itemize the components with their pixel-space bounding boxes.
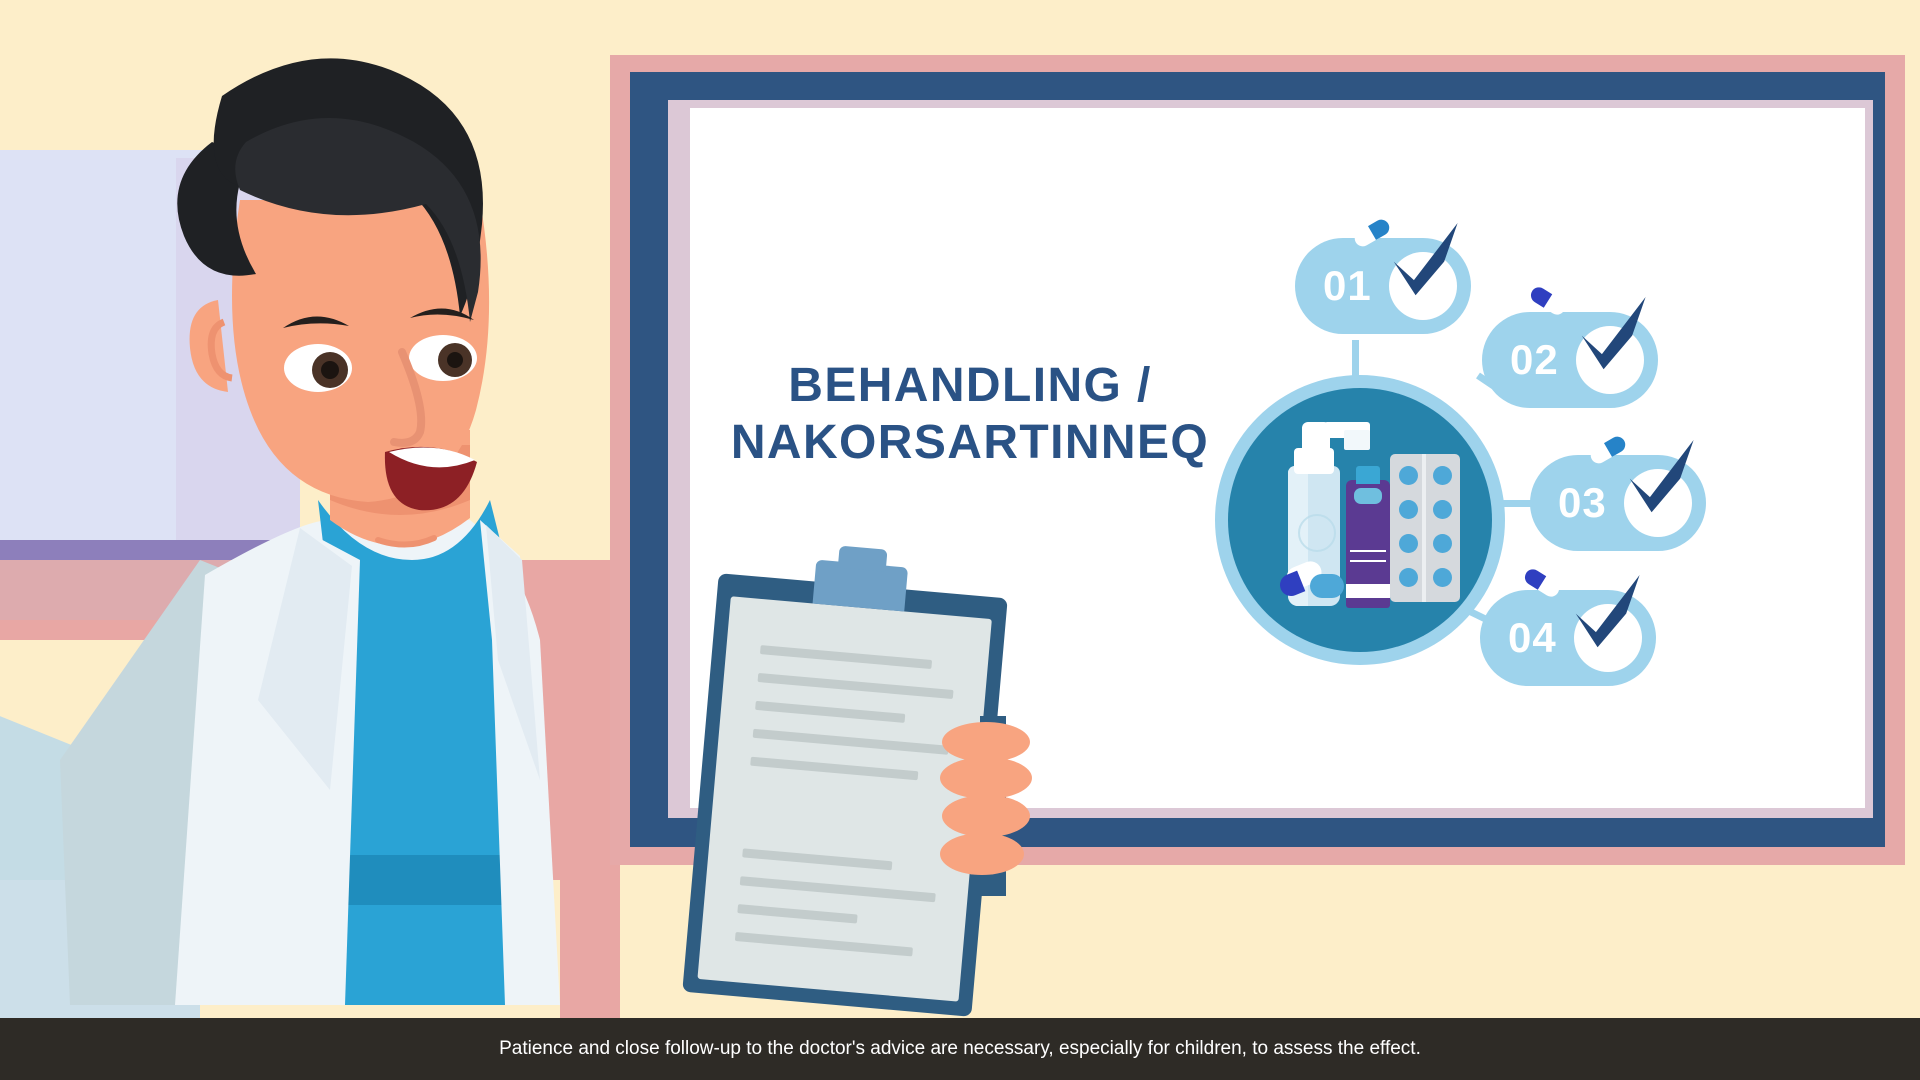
pill-icon bbox=[1399, 568, 1418, 587]
connector-01 bbox=[1352, 340, 1359, 380]
pill-icon bbox=[1399, 466, 1418, 485]
check-icon bbox=[1618, 435, 1702, 519]
whiteboard-title: BEHANDLING / NAKORSARTINNEQ bbox=[700, 358, 1240, 471]
clipboard-text-line bbox=[735, 932, 913, 956]
hand-gripping-clipboard bbox=[938, 716, 1058, 896]
clipboard-text-line bbox=[737, 904, 857, 923]
check-icon bbox=[1382, 218, 1466, 302]
ointment-tube-cap bbox=[1356, 466, 1380, 484]
clipboard-text-line bbox=[742, 848, 892, 870]
doctor-character bbox=[0, 0, 620, 1080]
whiteboard-title-line-1: BEHANDLING / bbox=[700, 358, 1240, 415]
clipboard-text-line bbox=[760, 645, 932, 669]
spray-bottle-seal bbox=[1298, 514, 1336, 552]
illustration-stage: BEHANDLING / NAKORSARTINNEQ bbox=[0, 0, 1920, 1080]
medicine-circle bbox=[1228, 388, 1492, 652]
whiteboard-title-line-2: NAKORSARTINNEQ bbox=[700, 415, 1240, 472]
badge-04-number: 04 bbox=[1508, 590, 1557, 686]
pill-icon bbox=[1433, 534, 1452, 553]
clipboard-text-line bbox=[753, 729, 949, 755]
pill-icon bbox=[1433, 500, 1452, 519]
caption-text: Patience and close follow-up to the doct… bbox=[0, 1018, 1920, 1080]
pill-icon bbox=[1399, 500, 1418, 519]
ointment-tube-base bbox=[1346, 584, 1390, 598]
clipboard-clip-top bbox=[838, 546, 888, 572]
ointment-tube-line bbox=[1350, 550, 1386, 552]
pill-icon bbox=[1433, 568, 1452, 587]
capsule-icon-cyan bbox=[1310, 574, 1344, 598]
blister-center-seam bbox=[1422, 454, 1426, 602]
spray-bottle-nozzle-tip bbox=[1344, 430, 1370, 450]
check-icon bbox=[1564, 570, 1648, 654]
clipboard-text-line bbox=[740, 876, 936, 902]
check-icon bbox=[1570, 292, 1654, 376]
clipboard-text-line bbox=[750, 757, 918, 781]
clipboard-text-line bbox=[758, 673, 954, 699]
ointment-tube-label bbox=[1354, 488, 1382, 504]
clipboard-text-line bbox=[755, 701, 905, 723]
pill-icon bbox=[1433, 466, 1452, 485]
pill-icon bbox=[1399, 534, 1418, 553]
badge-02-number: 02 bbox=[1510, 312, 1559, 408]
ointment-tube-line bbox=[1350, 560, 1386, 562]
